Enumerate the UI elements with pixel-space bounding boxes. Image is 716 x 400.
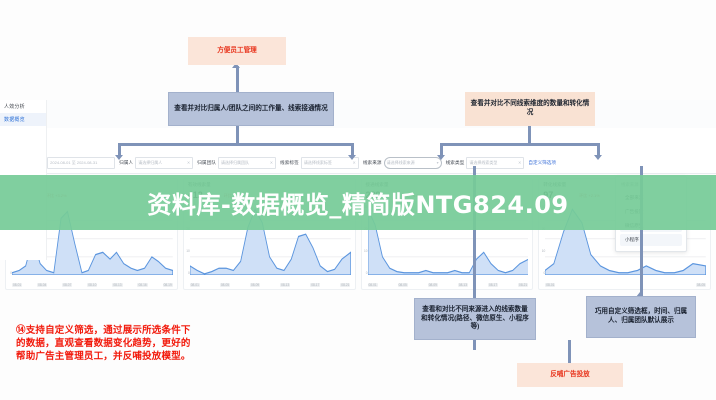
- connector-peach-right-down: [528, 125, 531, 143]
- x-tick: 08-17: [310, 283, 320, 287]
- x-tick: 08-19: [163, 283, 173, 287]
- callout-owner-team-comparison: 查看并对比归属人/团队之间的工作量、线索接通情况: [168, 92, 334, 126]
- connector-bottom-stub: [473, 340, 476, 350]
- x-tick: 08-13: [280, 283, 290, 287]
- screenshot-root: 人效分析 数据概览 线索创建时间 2024-08-01 至 2024-08-31…: [0, 0, 716, 400]
- filter-label: 线索标签: [280, 160, 299, 166]
- filter-chip-team[interactable]: 归属团队 请选择归属团队 ✕: [197, 157, 276, 169]
- arrow-down-icon: [348, 155, 356, 160]
- callout-lead-dimension-comparison: 查看并对比不同线索维度的数量和转化情况: [465, 92, 595, 126]
- filter-chip-source[interactable]: 线索来源 请选择线索来源 ▾: [363, 157, 442, 169]
- filter-value-box[interactable]: 请选择线索来源 ▾: [384, 157, 442, 169]
- filter-label: 线索来源: [363, 160, 382, 166]
- arrow-down-icon: [437, 155, 445, 160]
- banner-title: 资料库-数据概览_精简版NTG824.09: [147, 185, 568, 220]
- dashboard-subbar: 数据概览: [0, 128, 716, 153]
- x-axis: 08-01 08-05 08-09 08-13 08-17 08-21: [190, 283, 351, 287]
- x-tick: 08-07: [62, 283, 72, 287]
- x-tick: 08-05: [398, 283, 408, 287]
- filter-value-box[interactable]: 2024-08-01 至 2024-08-31: [47, 157, 115, 169]
- title-banner: 资料库-数据概览_精简版NTG824.09: [0, 175, 716, 230]
- x-tick: 08-01: [190, 283, 200, 287]
- callout-feedback-ad-delivery: 反哺广告投放: [517, 363, 623, 387]
- filter-value-box[interactable]: 请选择归属人 ✕: [135, 157, 193, 169]
- connector-peach-right-horizontal: [440, 143, 600, 146]
- filter-label: 归属人: [119, 160, 133, 166]
- x-tick: 08-09: [428, 283, 438, 287]
- filter-placeholder: 请选择线索类型: [469, 160, 497, 166]
- x-tick: 08-17: [488, 283, 498, 287]
- custom-filter-link[interactable]: 自定义筛选项: [528, 160, 556, 166]
- x-tick: 08-01: [12, 283, 22, 287]
- x-tick: 08-01: [368, 283, 378, 287]
- x-tick: 08-09: [250, 283, 260, 287]
- red-annotation-note: ⑭支持自定义筛选，通过展示所选条件下 的数据，直观查看数据变化趋势，更好的 帮助…: [16, 325, 304, 363]
- callout-employee-management: 方便员工管理: [188, 37, 286, 65]
- filter-value: 2024-08-01 至 2024-08-31: [50, 160, 97, 166]
- arrow-down-icon: [115, 155, 123, 160]
- arrow-down-icon: [594, 155, 602, 160]
- connector-blue-left-down: [236, 125, 239, 143]
- dropdown-item-miniprogram[interactable]: 小程序: [620, 234, 682, 246]
- x-tick: 08-21: [340, 283, 350, 287]
- filter-chip-tag[interactable]: 线索标签 请选择线索标签 ✕: [280, 157, 359, 169]
- x-tick: 08-13: [458, 283, 468, 287]
- x-axis: 08-01 08-05: [545, 283, 706, 287]
- filter-placeholder: 请选择线索来源: [387, 160, 415, 166]
- x-tick: 08-04: [37, 283, 47, 287]
- x-tick: 08-10: [87, 283, 97, 287]
- clear-icon[interactable]: ✕: [187, 160, 190, 165]
- filter-label: 归属团队: [197, 160, 216, 166]
- clear-icon[interactable]: ✕: [518, 160, 521, 165]
- filter-value-box[interactable]: 请选择归属团队 ✕: [218, 157, 276, 169]
- x-tick: 08-16: [137, 283, 147, 287]
- x-tick: 08-05: [696, 283, 706, 287]
- dashboard-topbar: 人效分析: [0, 100, 716, 129]
- filter-label: 线索类型: [446, 160, 465, 166]
- x-tick: 08-01: [545, 283, 555, 287]
- filter-bar: 线索创建时间 2024-08-01 至 2024-08-31 归属人 请选择归属…: [0, 152, 716, 174]
- filter-placeholder: 请选择线索标签: [304, 160, 332, 166]
- x-axis: 08-01 08-04 08-07 08-10 08-13 08-16 08-1…: [12, 283, 173, 287]
- red-note-line-1: ⑭支持自定义筛选，通过展示所选条件下: [16, 325, 304, 338]
- connector-blue-left-horizontal: [118, 143, 354, 146]
- connector-mid-to-bottom: [568, 340, 571, 363]
- filter-chip-owner[interactable]: 归属人 请选择归属人 ✕: [119, 157, 193, 169]
- clear-icon[interactable]: ✕: [270, 160, 273, 165]
- filter-placeholder: 请选择归属人: [138, 160, 162, 166]
- filter-placeholder: 请选择归属团队: [221, 160, 249, 166]
- sidebar-item-overview[interactable]: 数据概览: [0, 113, 46, 126]
- x-tick: 08-13: [112, 283, 122, 287]
- red-note-line-2: 的数据，直观查看数据变化趋势，更好的: [16, 338, 304, 351]
- filter-chip-type[interactable]: 线索类型 请选择线索类型 ✕: [446, 157, 525, 169]
- callout-source-comparison: 查看和对比不同来源进入的线索数量和转化情况(路径、微信原生、小程序等): [414, 298, 536, 340]
- chevron-down-icon[interactable]: ▾: [437, 160, 439, 165]
- sidebar-item-performance[interactable]: 人效分析: [0, 100, 46, 113]
- x-axis: 08-01 08-05 08-09 08-13 08-17 08-21: [368, 283, 529, 287]
- red-note-line-3: 帮助广告主管理员工，并反哺投放模型。: [16, 351, 304, 364]
- callout-custom-filter-tip: 巧用自定义筛选框，时间、归属人、归属团队默认展示: [586, 296, 696, 338]
- x-tick: 08-21: [518, 283, 528, 287]
- connector-top-vertical: [236, 66, 239, 94]
- x-tick: 08-05: [220, 283, 230, 287]
- clear-icon[interactable]: ✕: [352, 160, 355, 165]
